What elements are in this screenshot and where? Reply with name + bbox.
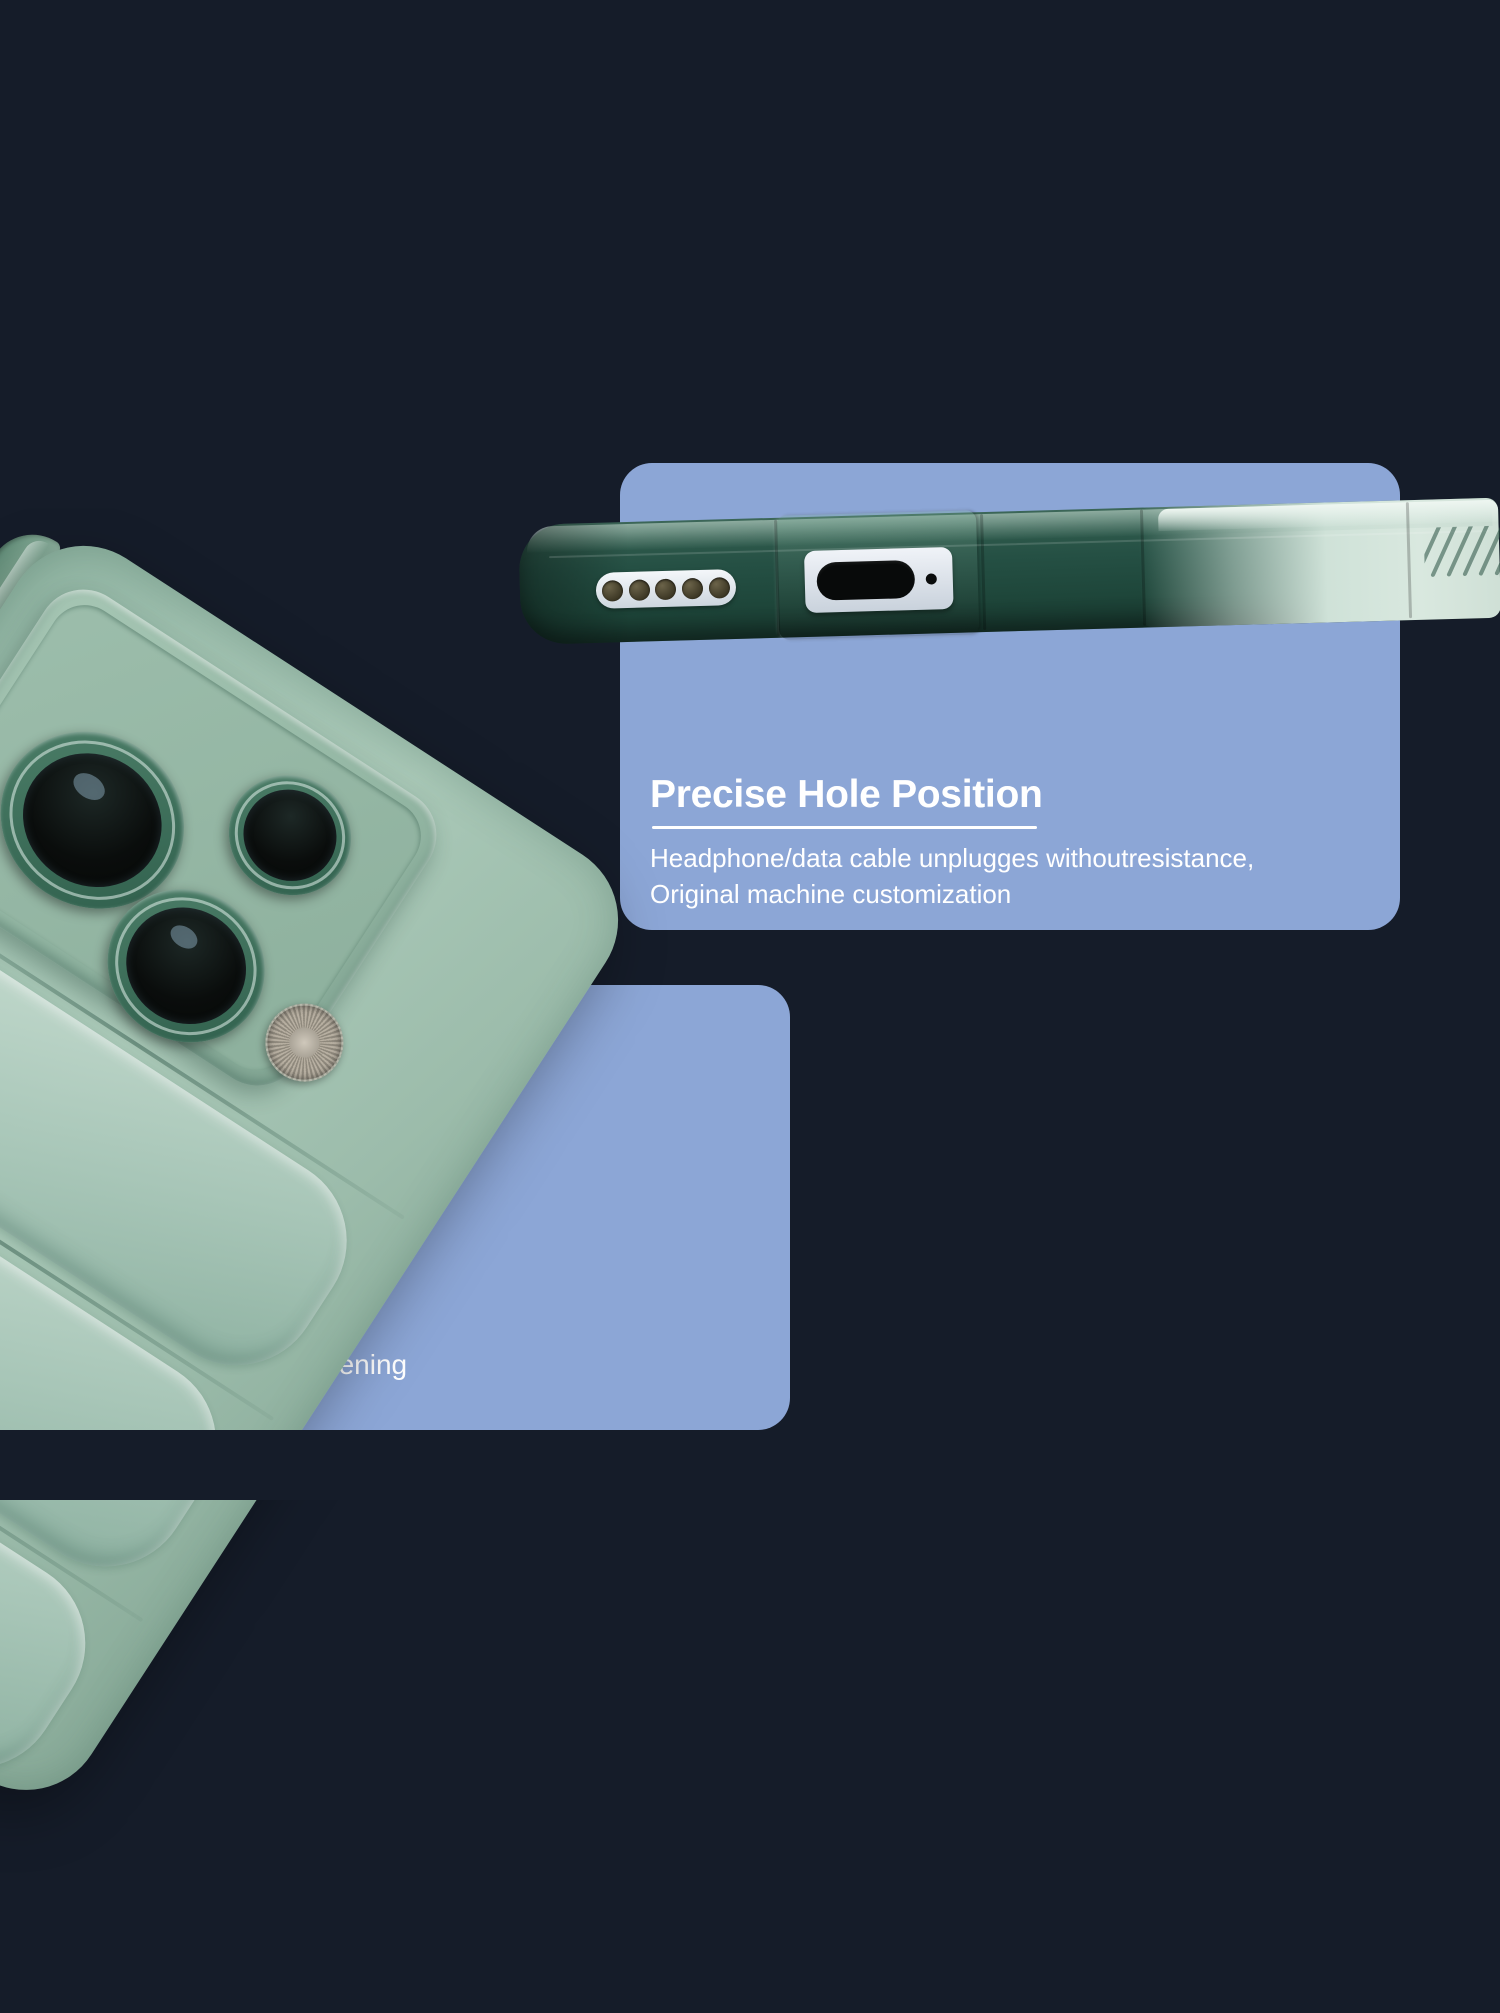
led-flash [250,989,358,1097]
usb-c-port-opening [816,560,915,601]
camera-lens-telephoto [206,752,374,918]
lens-ring [214,760,365,910]
feature-title: Precise Hole Position [650,773,1390,817]
speaker-hole [682,577,704,599]
case-back-shell [0,516,648,1820]
speaker-hole [709,577,731,599]
title-underline-rule [652,826,1037,829]
lens-glint [167,921,202,953]
lens-glint [69,768,110,805]
speaker-hole [655,578,677,600]
feature-body-line-1: Headphone/data cable unplugges withoutre… [650,841,1390,877]
case-edge-grip-hatch [1424,525,1500,597]
camera-module-inner-plate [0,591,435,1084]
microphone-hole [926,573,937,584]
speaker-hole [602,580,624,602]
canvas-bottom-mask [0,1430,1500,1500]
speaker-hole [628,579,650,601]
feature-text-block: Precise Hole Position Headphone/data cab… [650,773,1390,913]
feature-body-line-2: Original machine customization [650,877,1390,913]
canvas-top-mask [0,0,1500,463]
speaker-grille [595,569,736,609]
product-image-case-bottom-edge [517,470,1500,687]
usb-c-port [804,547,954,613]
